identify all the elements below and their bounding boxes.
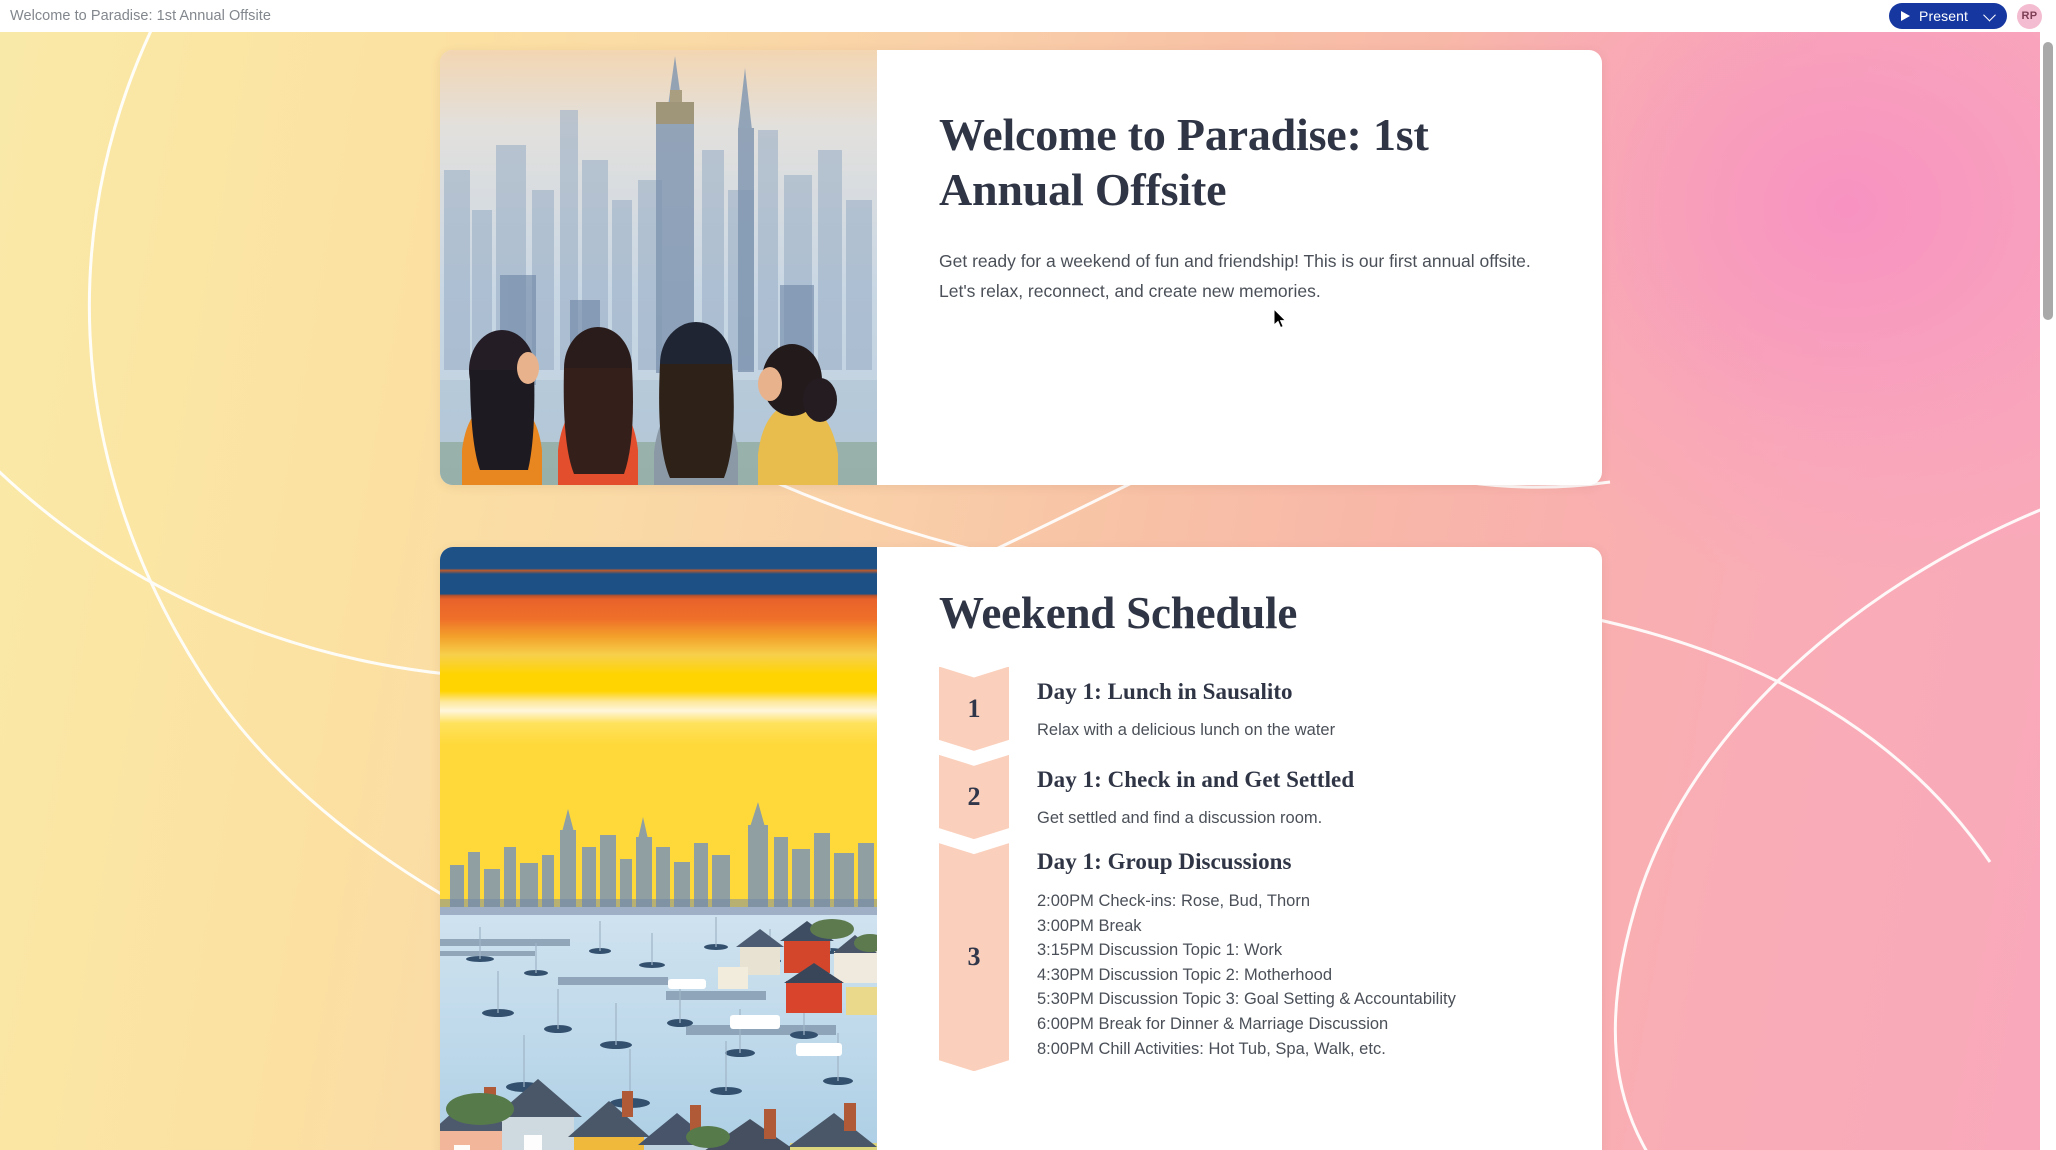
schedule-line: 4:30PM Discussion Topic 2: Motherhood	[1037, 963, 1540, 988]
vertical-scrollbar-track[interactable]	[2040, 32, 2056, 1150]
present-button-label: Present	[1919, 9, 1968, 23]
list-item[interactable]: 1 Day 1: Lunch in Sausalito Relax with a…	[939, 667, 1540, 755]
page-title: Weekend Schedule	[939, 587, 1540, 641]
list-item[interactable]: 2 Day 1: Check in and Get Settled Get se…	[939, 755, 1540, 843]
step-number-badge: 3	[939, 843, 1009, 1071]
chevron-down-icon[interactable]	[1983, 8, 1996, 21]
schedule-line: 5:30PM Discussion Topic 3: Goal Setting …	[1037, 987, 1540, 1012]
schedule-line: 3:15PM Discussion Topic 1: Work	[1037, 938, 1540, 963]
step-heading: Day 1: Lunch in Sausalito	[1037, 679, 1540, 705]
slide-image-city-friends	[440, 50, 877, 485]
step-number-badge: 1	[939, 667, 1009, 751]
schedule-line: 6:00PM Break for Dinner & Marriage Discu…	[1037, 1012, 1540, 1037]
step-number-badge: 2	[939, 755, 1009, 839]
vertical-scrollbar-thumb[interactable]	[2043, 42, 2053, 320]
slide-card-schedule[interactable]: Weekend Schedule 1 Day 1: Lunch in Sausa…	[440, 547, 1602, 1150]
step-content: Day 1: Lunch in Sausalito Relax with a d…	[1009, 667, 1540, 755]
schedule-line: 8:00PM Chill Activities: Hot Tub, Spa, W…	[1037, 1037, 1540, 1062]
slide-subtitle: Get ready for a weekend of fun and frien…	[939, 247, 1539, 305]
top-bar: Welcome to Paradise: 1st Annual Offsite …	[0, 0, 2056, 32]
schedule-line: 3:00PM Break	[1037, 914, 1540, 939]
step-description: Relax with a delicious lunch on the wate…	[1037, 719, 1540, 741]
list-item[interactable]: 3 Day 1: Group Discussions 2:00PM Check-…	[939, 843, 1540, 1075]
topbar-actions: Present RP	[1889, 3, 2042, 29]
schedule-line: 2:00PM Check-ins: Rose, Bud, Thorn	[1037, 889, 1540, 914]
slide-body-schedule: Weekend Schedule 1 Day 1: Lunch in Sausa…	[877, 547, 1602, 1150]
slide-body-welcome: Welcome to Paradise: 1st Annual Offsite …	[877, 50, 1602, 485]
page-title: Welcome to Paradise: 1st Annual Offsite	[939, 108, 1539, 217]
schedule-steps: 1 Day 1: Lunch in Sausalito Relax with a…	[939, 667, 1540, 1076]
step-content: Day 1: Group Discussions 2:00PM Check-in…	[1009, 843, 1540, 1075]
slide-card-welcome[interactable]: Welcome to Paradise: 1st Annual Offsite …	[440, 50, 1602, 485]
slide-image-harbor-sunset	[440, 547, 877, 1150]
step-schedule-lines: 2:00PM Check-ins: Rose, Bud, Thorn3:00PM…	[1037, 889, 1540, 1061]
document-title[interactable]: Welcome to Paradise: 1st Annual Offsite	[10, 8, 271, 24]
play-icon	[1901, 11, 1910, 21]
step-description: Get settled and find a discussion room.	[1037, 807, 1540, 829]
avatar[interactable]: RP	[2017, 4, 2042, 29]
slide-canvas[interactable]: Welcome to Paradise: 1st Annual Offsite …	[0, 32, 2056, 1150]
step-heading: Day 1: Group Discussions	[1037, 849, 1540, 875]
step-content: Day 1: Check in and Get Settled Get sett…	[1009, 755, 1540, 843]
present-button[interactable]: Present	[1889, 3, 2007, 29]
step-heading: Day 1: Check in and Get Settled	[1037, 767, 1540, 793]
